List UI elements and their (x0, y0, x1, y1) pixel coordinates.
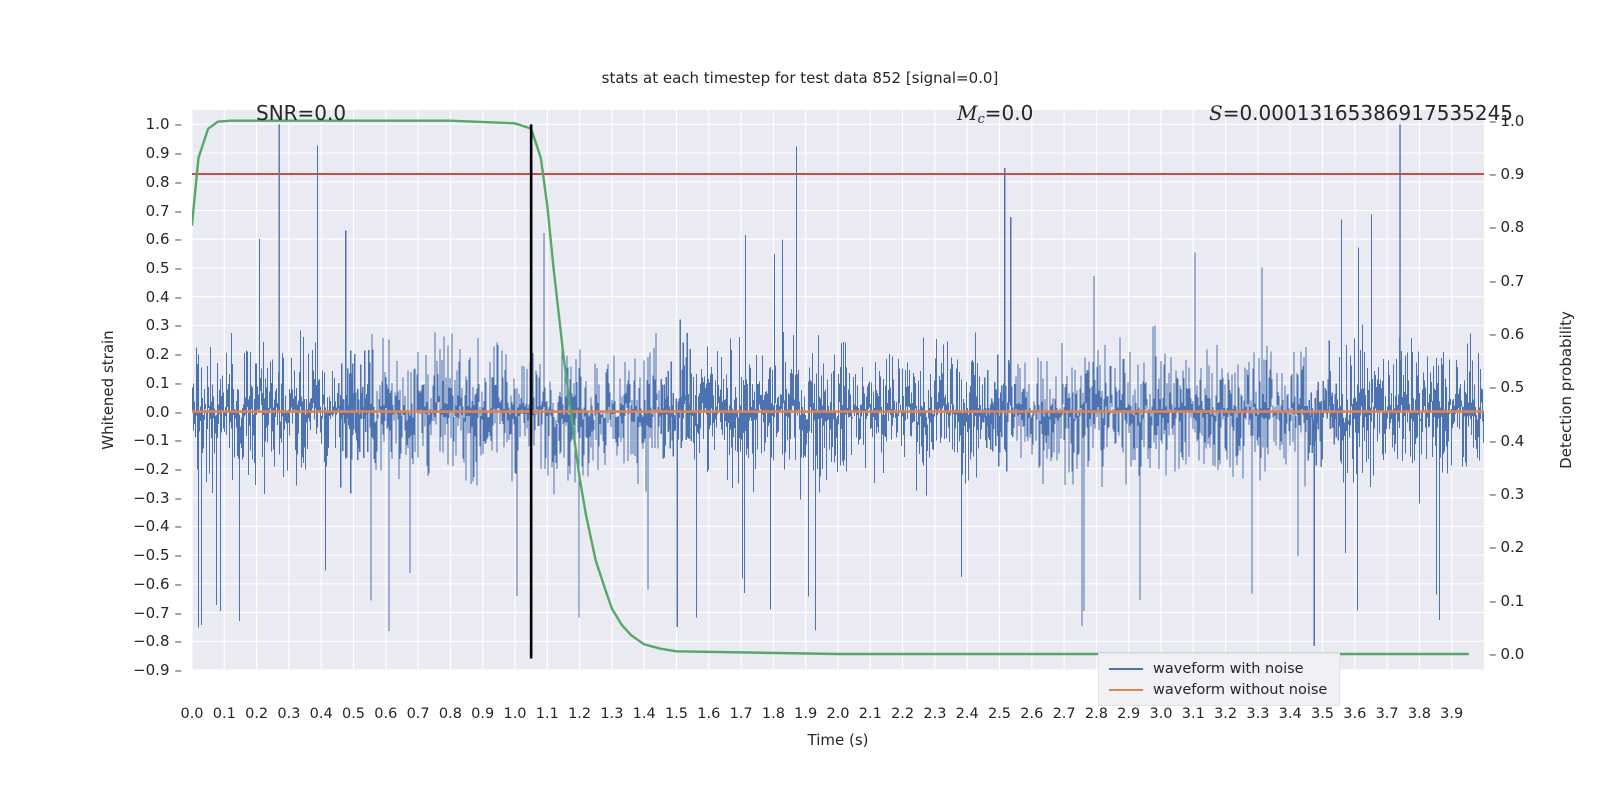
tick-mark: – (1489, 592, 1497, 610)
y-axis-left-tick-label: 0.5 (146, 259, 170, 277)
y-axis-right-tick: –0.4 (1489, 432, 1524, 450)
legend: waveform with noisewaveform without nois… (1098, 653, 1340, 706)
y-axis-left-tick-label: −0.8 (133, 632, 169, 650)
tick-mark: – (175, 173, 183, 191)
y-axis-left-tick-label: 0.3 (146, 316, 170, 334)
x-axis-tick-label: 0.3 (277, 706, 300, 722)
y-axis-left-tick: 0.9– (146, 144, 182, 162)
y-axis-left-tick: −0.7– (133, 604, 182, 622)
tick-mark: – (175, 489, 183, 507)
tick-mark: – (1489, 485, 1497, 503)
y-axis-left-tick: −0.8– (133, 632, 182, 650)
y-axis-right-tick: –0.5 (1489, 378, 1524, 396)
tick-mark: – (1489, 218, 1497, 236)
tick-mark: – (1489, 325, 1497, 343)
annotation-chirp-mass-subscript: c (977, 112, 984, 127)
y-axis-left-tick: 0.3– (146, 316, 182, 334)
y-axis-left-tick: 1.0– (146, 115, 182, 133)
tick-mark: – (175, 316, 183, 334)
y-axis-left-tick-label: 1.0 (146, 115, 170, 133)
tick-mark: – (1489, 538, 1497, 556)
x-axis-tick-label: 1.0 (503, 706, 526, 722)
y-axis-left-tick-label: 0.0 (146, 403, 170, 421)
y-axis-left-label: Whitened strain (99, 330, 117, 449)
x-axis-tick-label: 2.9 (1117, 706, 1140, 722)
x-axis-tick-label: 3.4 (1279, 706, 1302, 722)
x-axis-tick-label: 0.0 (180, 706, 203, 722)
y-axis-right-label: Detection probability (1557, 311, 1575, 469)
x-axis-tick-label: 0.2 (245, 706, 268, 722)
y-axis-left-tick-label: 0.4 (146, 288, 170, 306)
x-axis-tick-label: 3.8 (1408, 706, 1431, 722)
y-axis-right-tick: –0.0 (1489, 645, 1524, 663)
y-axis-right-tick-label: 0.5 (1501, 378, 1525, 396)
x-axis-tick-label: 1.1 (536, 706, 559, 722)
x-axis-tick-label: 1.4 (633, 706, 656, 722)
tick-mark: – (1489, 378, 1497, 396)
annotation-statistic: S=0.00013165386917535245 (1209, 101, 1513, 125)
tick-mark: – (175, 546, 183, 564)
x-axis-tick-label: 3.5 (1311, 706, 1334, 722)
y-axis-left-tick: 0.7– (146, 202, 182, 220)
y-axis-right-tick: –0.2 (1489, 538, 1524, 556)
x-axis-tick-label: 0.7 (407, 706, 430, 722)
y-axis-left-tick: 0.0– (146, 403, 182, 421)
y-axis-left-tick-label: 0.9 (146, 144, 170, 162)
x-axis-tick-label: 0.9 (471, 706, 494, 722)
y-axis-right-tick-label: 0.8 (1501, 218, 1525, 236)
y-axis-right-tick: –0.9 (1489, 165, 1524, 183)
tick-mark: – (1489, 432, 1497, 450)
x-axis-tick-label: 0.5 (342, 706, 365, 722)
tick-mark: – (175, 403, 183, 421)
x-axis-tick-label: 1.5 (665, 706, 688, 722)
x-axis-tick-label: 1.6 (697, 706, 720, 722)
x-axis-tick-label: 3.7 (1376, 706, 1399, 722)
x-axis-tick-label: 1.7 (730, 706, 753, 722)
x-axis-tick-label: 2.1 (859, 706, 882, 722)
tick-mark: – (175, 144, 183, 162)
x-axis-tick-label: 2.3 (923, 706, 946, 722)
y-axis-left-tick: −0.3– (133, 489, 182, 507)
y-axis-left-tick-label: −0.9 (133, 661, 169, 679)
y-axis-left-tick-label: −0.1 (133, 431, 169, 449)
tick-mark: – (1489, 165, 1497, 183)
page-title: stats at each timestep for test data 852… (0, 69, 1600, 87)
legend-item-label: waveform with noise (1153, 661, 1304, 677)
annotation-statistic-symbol: S (1209, 101, 1223, 125)
tick-mark: – (175, 431, 183, 449)
y-axis-left-tick-label: −0.4 (133, 517, 169, 535)
annotation-snr: SNR=0.0 (256, 101, 346, 125)
tick-mark: – (175, 517, 183, 535)
y-axis-right-tick-label: 0.7 (1501, 272, 1525, 290)
annotation-chirp-mass: Mc=0.0 (957, 101, 1033, 127)
tick-mark: – (175, 460, 183, 478)
y-axis-right-tick: –0.1 (1489, 592, 1524, 610)
y-axis-right-tick-label: 0.0 (1501, 645, 1525, 663)
y-axis-left-tick-label: 0.8 (146, 173, 170, 191)
tick-mark: – (175, 661, 183, 679)
x-axis-label: Time (s) (808, 731, 869, 749)
y-axis-left-tick: 0.2– (146, 345, 182, 363)
x-axis-tick-label: 3.1 (1182, 706, 1205, 722)
tick-mark: – (175, 230, 183, 248)
data-layer (192, 110, 1484, 670)
y-axis-left-tick-label: 0.7 (146, 202, 170, 220)
x-axis-tick-label: 2.4 (956, 706, 979, 722)
y-axis-left-tick: −0.1– (133, 431, 182, 449)
x-axis-tick-label: 3.6 (1343, 706, 1366, 722)
x-axis-tick-label: 2.2 (891, 706, 914, 722)
legend-item-label: waveform without noise (1153, 682, 1327, 698)
y-axis-left-tick-label: −0.3 (133, 489, 169, 507)
x-axis-tick-label: 1.2 (568, 706, 591, 722)
y-axis-right-tick: –0.6 (1489, 325, 1524, 343)
y-axis-left-tick: −0.2– (133, 460, 182, 478)
y-axis-left-tick: 0.8– (146, 173, 182, 191)
y-axis-left-tick-label: 0.6 (146, 230, 170, 248)
y-axis-left-tick-label: 0.1 (146, 374, 170, 392)
tick-mark: – (175, 374, 183, 392)
y-axis-left-tick-label: −0.6 (133, 575, 169, 593)
y-axis-right-tick-label: 0.6 (1501, 325, 1525, 343)
annotation-chirp-mass-symbol: M (957, 101, 977, 125)
x-axis-tick-label: 2.8 (1085, 706, 1108, 722)
y-axis-left-tick-label: 0.2 (146, 345, 170, 363)
plot-area (192, 110, 1484, 670)
x-axis-tick-label: 0.8 (439, 706, 462, 722)
y-axis-right-tick: –0.7 (1489, 272, 1524, 290)
tick-mark: – (175, 632, 183, 650)
x-axis-tick-label: 0.4 (310, 706, 333, 722)
y-axis-left-tick: 0.6– (146, 230, 182, 248)
x-axis-tick-label: 3.0 (1149, 706, 1172, 722)
y-axis-right-tick-label: 0.1 (1501, 592, 1525, 610)
y-axis-left-tick: −0.9– (133, 661, 182, 679)
y-axis-right-tick-label: 0.4 (1501, 432, 1525, 450)
x-axis-tick-label: 0.1 (213, 706, 236, 722)
legend-color-swatch (1109, 689, 1143, 691)
y-axis-left-tick-label: −0.5 (133, 546, 169, 564)
y-axis-left-tick: 0.1– (146, 374, 182, 392)
tick-mark: – (175, 575, 183, 593)
y-axis-left-tick: 0.4– (146, 288, 182, 306)
legend-color-swatch (1109, 668, 1143, 670)
tick-mark: – (175, 288, 183, 306)
annotation-statistic-value: =0.00013165386917535245 (1223, 101, 1513, 125)
tick-mark: – (175, 115, 183, 133)
y-axis-left-tick: −0.6– (133, 575, 182, 593)
x-axis-tick-label: 3.2 (1214, 706, 1237, 722)
x-axis-tick-label: 2.5 (988, 706, 1011, 722)
tick-mark: – (175, 604, 183, 622)
figure-canvas: stats at each timestep for test data 852… (0, 0, 1600, 800)
y-axis-right-tick-label: 0.2 (1501, 538, 1525, 556)
y-axis-left-tick: −0.4– (133, 517, 182, 535)
y-axis-right-tick: –0.8 (1489, 218, 1524, 236)
y-axis-left-tick: 0.5– (146, 259, 182, 277)
tick-mark: – (175, 202, 183, 220)
y-axis-left-tick-label: −0.2 (133, 460, 169, 478)
tick-mark: – (175, 345, 183, 363)
x-axis-tick-label: 2.0 (826, 706, 849, 722)
legend-item[interactable]: waveform without noise (1109, 682, 1327, 698)
x-axis-tick-label: 1.9 (794, 706, 817, 722)
x-axis-tick-label: 1.3 (600, 706, 623, 722)
x-axis-tick-label: 1.8 (762, 706, 785, 722)
y-axis-left-tick: −0.5– (133, 546, 182, 564)
y-axis-right-tick: –0.3 (1489, 485, 1524, 503)
y-axis-left-tick-label: −0.7 (133, 604, 169, 622)
tick-mark: – (175, 259, 183, 277)
x-axis-tick-label: 3.9 (1440, 706, 1463, 722)
x-axis-tick-label: 3.3 (1246, 706, 1269, 722)
y-axis-right-tick-label: 0.3 (1501, 485, 1525, 503)
x-axis-tick-label: 2.6 (1020, 706, 1043, 722)
legend-item[interactable]: waveform with noise (1109, 661, 1327, 677)
tick-mark: – (1489, 645, 1497, 663)
x-axis-tick-label: 0.6 (374, 706, 397, 722)
tick-mark: – (1489, 272, 1497, 290)
annotation-chirp-mass-value: =0.0 (985, 101, 1034, 125)
x-axis-tick-label: 2.7 (1053, 706, 1076, 722)
y-axis-right-tick-label: 0.9 (1501, 165, 1525, 183)
